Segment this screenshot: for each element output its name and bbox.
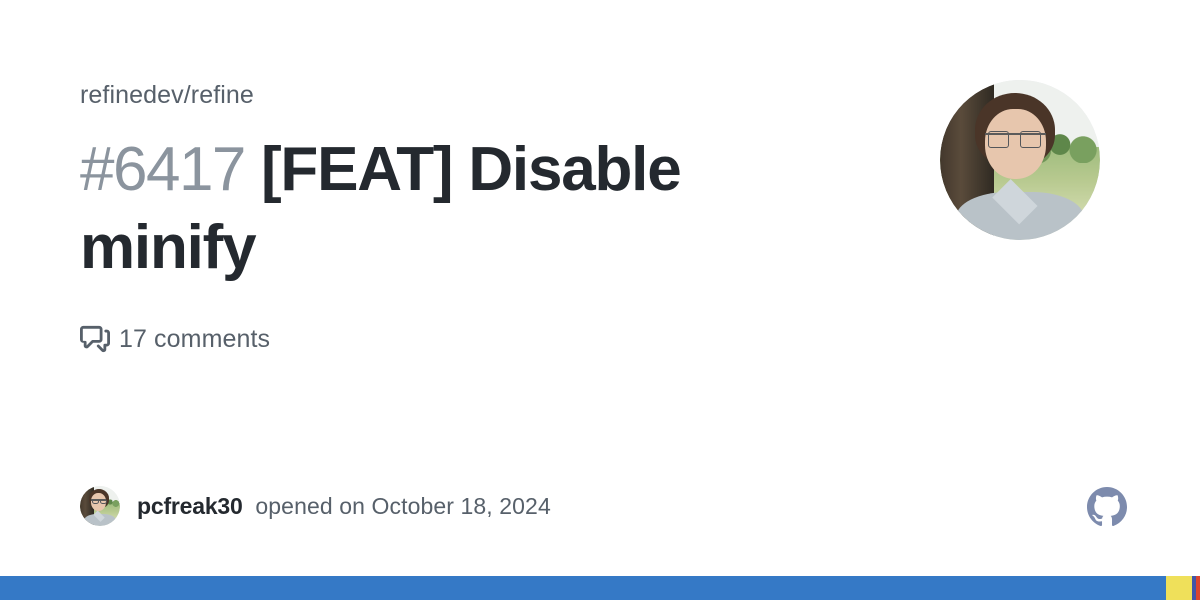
issue-number: #6417 [80, 135, 245, 204]
issue-footer: pcfreak30 opened on October 18, 2024 [80, 486, 551, 526]
comments-row[interactable]: 17 comments [80, 324, 270, 354]
comment-discussion-icon [80, 324, 110, 354]
bar-segment-1 [1166, 576, 1191, 600]
author-avatar-large [940, 80, 1100, 240]
opened-on-text: opened on October 18, 2024 [255, 493, 550, 519]
footer-meta: pcfreak30 opened on October 18, 2024 [137, 492, 551, 520]
author-name[interactable]: pcfreak30 [137, 493, 243, 519]
bar-segment-0 [0, 576, 1166, 600]
page-title: #6417 [FEAT] Disable minify [80, 131, 870, 287]
language-color-bar [0, 576, 1200, 600]
bar-segment-3 [1196, 576, 1200, 600]
avatar-photo-small [80, 486, 120, 526]
github-mark-icon [1087, 487, 1127, 527]
author-avatar-small[interactable] [80, 486, 120, 526]
github-issue-social-card: refinedev/refine #6417 [FEAT] Disable mi… [0, 0, 1200, 600]
issue-title-block: #6417 [FEAT] Disable minify [80, 131, 870, 287]
repository-name[interactable]: refinedev/refine [80, 80, 254, 110]
avatar-photo [940, 80, 1100, 240]
comments-count-label: 17 comments [119, 324, 270, 354]
